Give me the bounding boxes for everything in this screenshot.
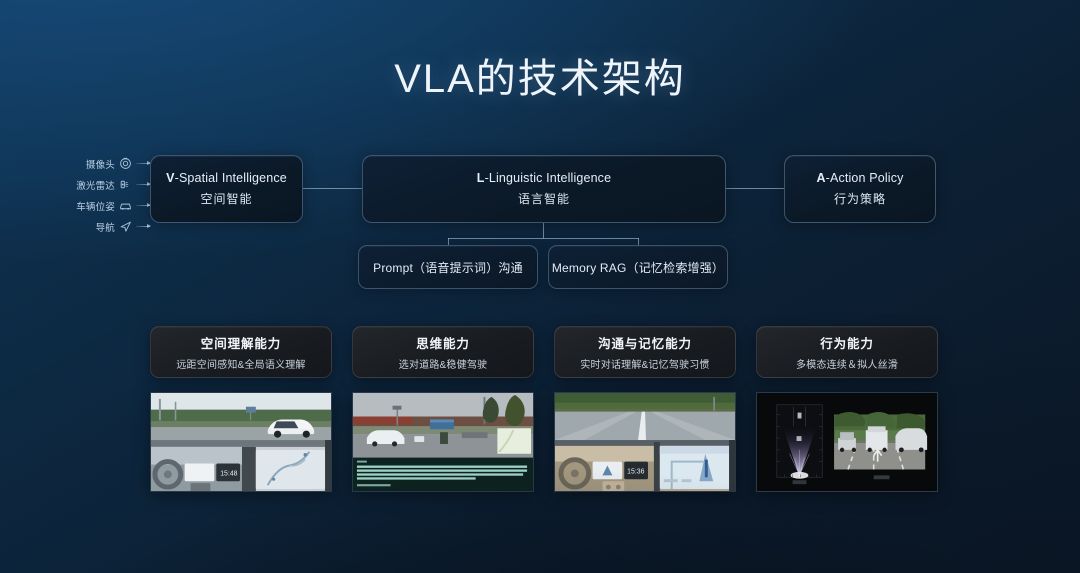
input-source-vehicle-pose: 车辆位姿 <box>58 195 150 216</box>
input-source-label: 导航 <box>96 220 115 234</box>
capability-card-communication-memory[interactable]: 沟通与记忆能力 实时对话理解&记忆驾驶习惯 <box>554 326 736 378</box>
lidar-icon <box>119 178 132 191</box>
input-source-label: 激光雷达 <box>76 178 115 192</box>
arrow-right-icon <box>136 163 150 164</box>
module-action-policy[interactable]: A-Action Policy 行为策略 <box>784 155 936 223</box>
thumbnail-spatial-understanding[interactable]: 15:48 <box>150 392 332 492</box>
capability-card-spatial-understanding[interactable]: 空间理解能力 远距空间感知&全局语义理解 <box>150 326 332 378</box>
module-title-text: -Spatial Intelligence <box>175 171 287 185</box>
input-source-navigation: 导航 <box>58 216 150 237</box>
input-source-label: 车辆位姿 <box>76 199 115 213</box>
capability-card-action[interactable]: 行为能力 多模态连续＆拟人丝滑 <box>756 326 938 378</box>
module-title-en: A-Action Policy <box>816 171 903 185</box>
submodule-memory-rag[interactable]: Memory RAG（记忆检索增强） <box>548 245 728 289</box>
arrow-right-icon <box>136 205 150 206</box>
thumbnail-thinking[interactable] <box>352 392 534 492</box>
road-scene-with-reasoning-text-overlay <box>353 393 533 491</box>
vehicle-pose-icon <box>119 199 132 212</box>
arrow-right-icon <box>136 226 150 227</box>
connector-linguistic-to-action <box>726 188 784 189</box>
module-title-cn: 行为策略 <box>834 190 886 207</box>
capability-subtitle: 选对道路&稳健驾驶 <box>399 356 487 371</box>
camera-icon <box>119 157 132 170</box>
point-cloud-and-camera-dual-panel <box>757 393 937 491</box>
module-spatial-intelligence[interactable]: V-Spatial Intelligence 空间智能 <box>150 155 303 223</box>
capability-card-thinking[interactable]: 思维能力 选对道路&稳健驾驶 <box>352 326 534 378</box>
module-linguistic-intelligence[interactable]: L-Linguistic Intelligence 语言智能 <box>362 155 726 223</box>
navigation-icon <box>119 220 132 233</box>
connector-linguistic-stem <box>543 223 544 238</box>
module-title-text: -Linguistic Intelligence <box>485 171 612 185</box>
road-scene-with-white-car-and-cockpit-view: 15:48 <box>151 393 331 491</box>
submodule-prompt[interactable]: Prompt（语音提示词）沟通 <box>358 245 538 289</box>
module-title-en: V-Spatial Intelligence <box>166 171 287 185</box>
capability-title: 行为能力 <box>820 333 874 352</box>
thumbnail-communication-memory[interactable]: 15:36 <box>554 392 736 492</box>
input-source-label: 摄像头 <box>86 157 115 171</box>
module-title-cn: 空间智能 <box>200 190 252 207</box>
slide-canvas: VLA的技术架构 摄像头 激光雷达 车辆位姿 <box>0 0 1080 573</box>
input-source-camera: 摄像头 <box>58 153 150 174</box>
svg-text:15:36: 15:36 <box>627 468 644 475</box>
module-title-text: -Action Policy <box>826 171 904 185</box>
module-title-en: L-Linguistic Intelligence <box>477 171 611 185</box>
highway-view-with-cockpit-and-navigation-screen: 15:36 <box>555 393 735 491</box>
connector-spatial-to-linguistic <box>303 188 362 189</box>
svg-text:15:48: 15:48 <box>220 470 237 477</box>
module-prefix: V <box>166 171 175 185</box>
capability-subtitle: 多模态连续＆拟人丝滑 <box>796 356 898 371</box>
capability-title: 沟通与记忆能力 <box>598 333 692 352</box>
capability-title: 思维能力 <box>416 333 470 352</box>
connector-submodule-bus <box>448 238 639 239</box>
arrow-right-icon <box>136 184 150 185</box>
page-title: VLA的技术架构 <box>0 46 1080 104</box>
capability-title: 空间理解能力 <box>201 333 281 352</box>
capability-subtitle: 远距空间感知&全局语义理解 <box>176 356 305 371</box>
input-source-lidar: 激光雷达 <box>58 174 150 195</box>
capability-subtitle: 实时对话理解&记忆驾驶习惯 <box>580 356 709 371</box>
module-prefix: A <box>816 171 825 185</box>
thumbnail-action[interactable] <box>756 392 938 492</box>
module-title-cn: 语言智能 <box>518 190 570 207</box>
input-sources-list: 摄像头 激光雷达 车辆位姿 <box>58 153 150 237</box>
module-prefix: L <box>477 171 485 185</box>
